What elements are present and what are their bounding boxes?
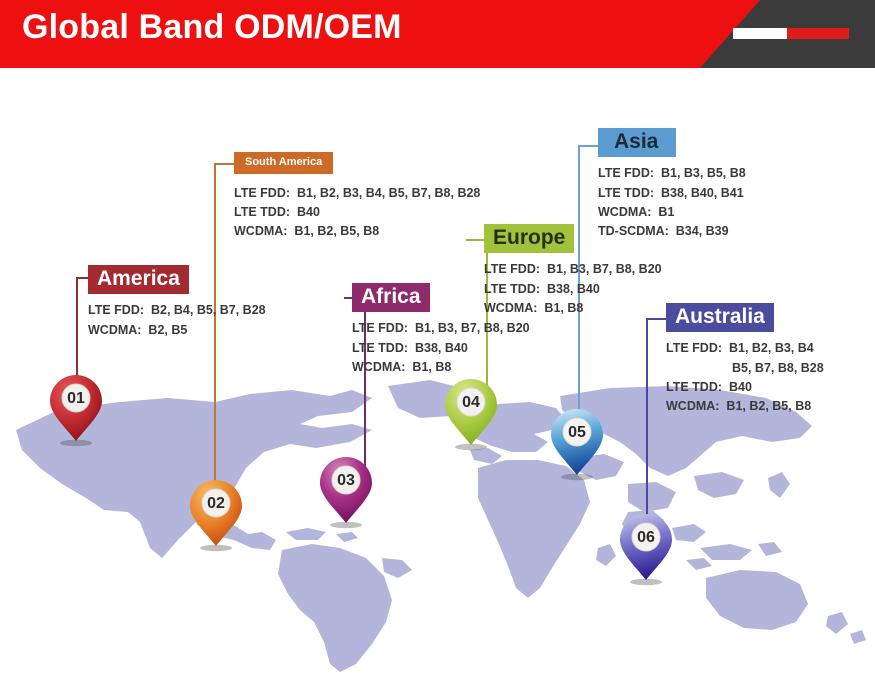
band-row-continuation: B5, B7, B8, B28 bbox=[666, 359, 824, 378]
band-label: LTE FDD: bbox=[234, 186, 293, 200]
band-value: B1, B2, B3, B4 bbox=[729, 341, 814, 355]
region-tag-asia[interactable]: Asia bbox=[598, 128, 676, 157]
band-label: WCDMA: bbox=[352, 360, 409, 374]
region-tag-america[interactable]: America bbox=[88, 265, 189, 294]
band-label: WCDMA: bbox=[598, 205, 655, 219]
band-value: B2, B5 bbox=[148, 323, 187, 337]
band-label: WCDMA: bbox=[666, 399, 723, 413]
band-label: LTE FDD: bbox=[88, 303, 147, 317]
band-row: WCDMA: B1, B2, B5, B8 bbox=[234, 222, 480, 241]
band-value: B40 bbox=[297, 205, 320, 219]
region-tag-europe[interactable]: Europe bbox=[484, 224, 574, 253]
map-landmasses bbox=[16, 380, 866, 672]
world-map bbox=[0, 372, 875, 672]
header-red-bar-icon bbox=[787, 28, 849, 39]
band-row: WCDMA: B2, B5 bbox=[88, 321, 266, 340]
callout-australia: Australia LTE FDD: B1, B2, B3, B4 B5, B7… bbox=[666, 303, 824, 417]
pin-number: 01 bbox=[48, 390, 104, 408]
map-pin-03[interactable]: 03 bbox=[318, 455, 374, 529]
band-row: LTE FDD: B1, B2, B3, B4 bbox=[666, 339, 824, 358]
band-value: B1, B3, B7, B8, B20 bbox=[547, 262, 662, 276]
band-value: B1, B3, B5, B8 bbox=[661, 166, 746, 180]
band-value: B1, B2, B5, B8 bbox=[294, 224, 379, 238]
band-value: B40 bbox=[729, 380, 752, 394]
map-pin-06[interactable]: 06 bbox=[618, 512, 674, 586]
band-row: LTE FDD: B1, B3, B7, B8, B20 bbox=[352, 319, 530, 338]
pin-number: 06 bbox=[618, 529, 674, 547]
band-label: LTE TDD: bbox=[234, 205, 293, 219]
world-map-svg bbox=[0, 372, 875, 672]
band-label: WCDMA: bbox=[484, 301, 541, 315]
header-white-bar-icon bbox=[733, 28, 787, 39]
band-label: LTE FDD: bbox=[598, 166, 657, 180]
pin-number: 03 bbox=[318, 472, 374, 490]
map-pin-02[interactable]: 02 bbox=[188, 478, 244, 552]
region-tag-australia[interactable]: Australia bbox=[666, 303, 774, 332]
band-value: B1, B2, B5, B8 bbox=[726, 399, 811, 413]
band-value: B2, B4, B5, B7, B28 bbox=[151, 303, 266, 317]
map-pin-01[interactable]: 01 bbox=[48, 373, 104, 447]
band-row: WCDMA: B1 bbox=[598, 203, 746, 222]
pin-number: 02 bbox=[188, 495, 244, 513]
pin-number: 05 bbox=[549, 424, 605, 442]
header-underline bbox=[0, 68, 875, 71]
band-row: WCDMA: B1, B8 bbox=[484, 299, 662, 318]
band-row: WCDMA: B1, B8 bbox=[352, 358, 530, 377]
band-value: B1, B3, B7, B8, B20 bbox=[415, 321, 530, 335]
map-pin-04[interactable]: 04 bbox=[443, 377, 499, 451]
band-value: B1, B2, B3, B4, B5, B7, B8, B28 bbox=[297, 186, 480, 200]
band-label: LTE FDD: bbox=[666, 341, 725, 355]
band-row: LTE TDD: B38, B40 bbox=[352, 339, 530, 358]
band-value: B1, B8 bbox=[544, 301, 583, 315]
band-label: LTE FDD: bbox=[352, 321, 411, 335]
band-value: B1, B8 bbox=[412, 360, 451, 374]
band-row: LTE TDD: B38, B40, B41 bbox=[598, 184, 746, 203]
band-value: B5, B7, B8, B28 bbox=[732, 361, 824, 375]
band-value: B34, B39 bbox=[676, 224, 729, 238]
band-label: LTE TDD: bbox=[352, 341, 411, 355]
callout-south-america: South America LTE FDD: B1, B2, B3, B4, B… bbox=[234, 152, 480, 242]
band-list-america: LTE FDD: B2, B4, B5, B7, B28 WCDMA: B2, … bbox=[88, 301, 266, 340]
band-row: LTE TDD: B40 bbox=[234, 203, 480, 222]
page-title: Global Band ODM/OEM bbox=[22, 8, 402, 47]
band-label: WCDMA: bbox=[234, 224, 291, 238]
band-row: WCDMA: B1, B2, B5, B8 bbox=[666, 397, 824, 416]
band-row: LTE TDD: B38, B40 bbox=[484, 280, 662, 299]
band-row: TD-SCDMA: B34, B39 bbox=[598, 222, 746, 241]
band-list-europe: LTE FDD: B1, B3, B7, B8, B20 LTE TDD: B3… bbox=[484, 260, 662, 318]
band-row: LTE FDD: B1, B3, B5, B8 bbox=[598, 164, 746, 183]
band-label: LTE TDD: bbox=[666, 380, 725, 394]
callout-america: America LTE FDD: B2, B4, B5, B7, B28 WCD… bbox=[88, 265, 266, 340]
band-list-africa: LTE FDD: B1, B3, B7, B8, B20 LTE TDD: B3… bbox=[352, 319, 530, 377]
band-label: WCDMA: bbox=[88, 323, 145, 337]
band-row: LTE FDD: B2, B4, B5, B7, B28 bbox=[88, 301, 266, 320]
band-list-south-america: LTE FDD: B1, B2, B3, B4, B5, B7, B8, B28… bbox=[234, 184, 480, 242]
band-label: LTE TDD: bbox=[598, 186, 657, 200]
pin-number: 04 bbox=[443, 394, 499, 412]
band-row: LTE TDD: B40 bbox=[666, 378, 824, 397]
region-tag-south-america[interactable]: South America bbox=[234, 152, 333, 174]
band-row: LTE FDD: B1, B2, B3, B4, B5, B7, B8, B28 bbox=[234, 184, 480, 203]
band-label: LTE TDD: bbox=[484, 282, 543, 296]
band-label: LTE FDD: bbox=[484, 262, 543, 276]
band-list-asia: LTE FDD: B1, B3, B5, B8 LTE TDD: B38, B4… bbox=[598, 164, 746, 242]
band-list-australia: LTE FDD: B1, B2, B3, B4 B5, B7, B8, B28 … bbox=[666, 339, 824, 417]
band-value: B38, B40, B41 bbox=[661, 186, 744, 200]
band-value: B1 bbox=[658, 205, 674, 219]
map-pin-05[interactable]: 05 bbox=[549, 407, 605, 481]
band-value: B38, B40 bbox=[415, 341, 468, 355]
band-row: LTE FDD: B1, B3, B7, B8, B20 bbox=[484, 260, 662, 279]
callout-asia: Asia LTE FDD: B1, B3, B5, B8 LTE TDD: B3… bbox=[598, 128, 746, 242]
header-bar: Global Band ODM/OEM bbox=[0, 0, 875, 68]
region-tag-africa[interactable]: Africa bbox=[352, 283, 430, 312]
slide-canvas: Global Band ODM/OEM bbox=[0, 0, 875, 676]
band-label: TD-SCDMA: bbox=[598, 224, 672, 238]
band-value: B38, B40 bbox=[547, 282, 600, 296]
